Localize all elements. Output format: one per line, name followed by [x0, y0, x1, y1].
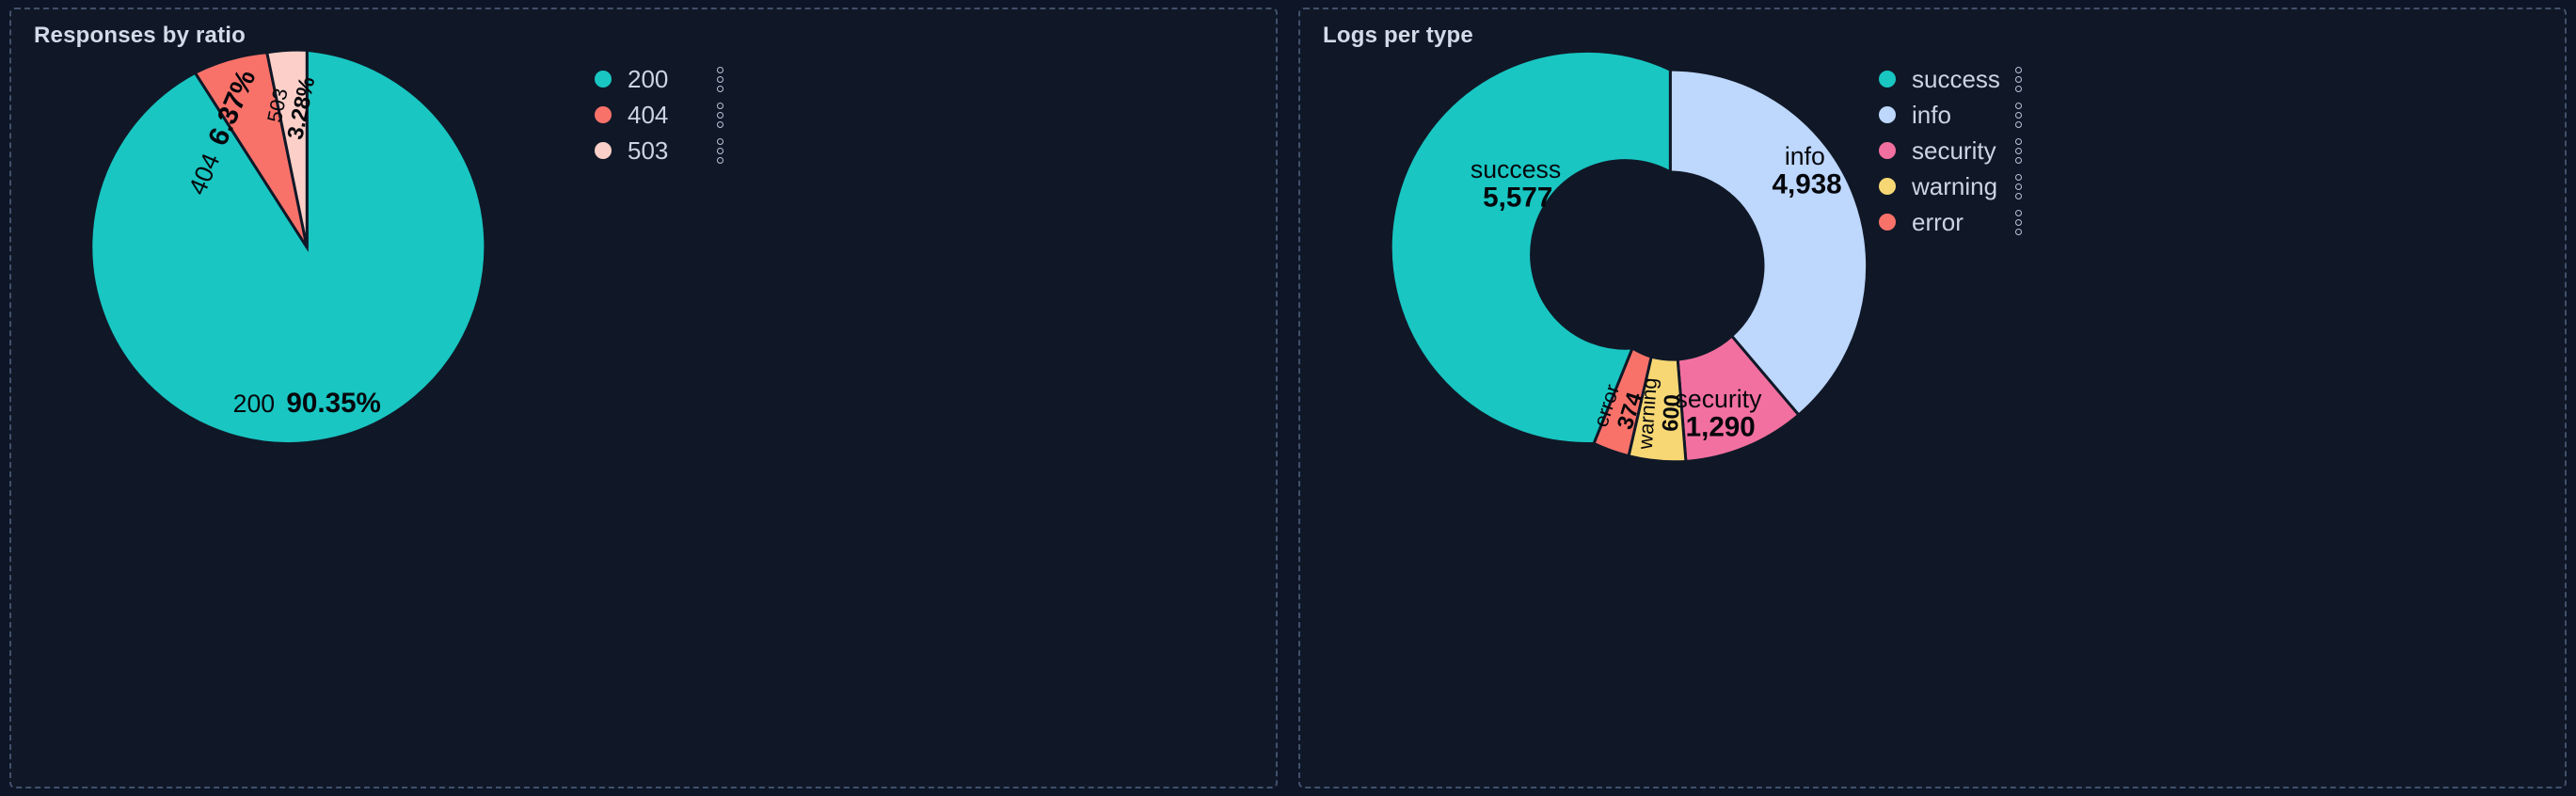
- kebab-menu-icon[interactable]: [2008, 102, 2028, 128]
- donut-label-success: success 5,577: [1471, 155, 1566, 214]
- legend-logs-per-type: success info security warning error: [1879, 66, 2000, 235]
- panel-responses-by-ratio: Responses by ratio 200 90.35%: [9, 8, 1278, 788]
- legend-item[interactable]: warning: [1879, 173, 2000, 199]
- legend-item-label: info: [1912, 101, 1951, 130]
- kebab-menu-icon[interactable]: [2008, 66, 2028, 92]
- legend-item[interactable]: success: [1879, 66, 2000, 92]
- kebab-menu-icon[interactable]: [709, 137, 730, 164]
- legend-responses-by-ratio: 200 404 503: [595, 66, 668, 164]
- legend-item-label: 503: [628, 136, 668, 166]
- legend-item[interactable]: info: [1879, 102, 2000, 128]
- legend-item[interactable]: 503: [595, 137, 668, 164]
- kebab-menu-icon[interactable]: [2008, 173, 2028, 199]
- legend-color-swatch-icon: [1879, 142, 1896, 159]
- legend-item-label: security: [1912, 136, 1996, 166]
- legend-color-swatch-icon: [595, 142, 612, 159]
- panel-logs-per-type: Logs per type info 4,938 s: [1298, 8, 2567, 788]
- legend-item[interactable]: 404: [595, 102, 668, 128]
- kebab-menu-icon[interactable]: [2008, 209, 2028, 235]
- kebab-menu-icon[interactable]: [2008, 137, 2028, 164]
- legend-item-label: 200: [628, 65, 668, 94]
- legend-item[interactable]: security: [1879, 137, 2000, 164]
- kebab-menu-icon[interactable]: [709, 102, 730, 128]
- legend-item-label: success: [1912, 65, 2000, 94]
- pie-label-200: 200 90.35%: [233, 388, 381, 419]
- legend-color-swatch-icon: [595, 71, 612, 88]
- legend-color-swatch-icon: [1879, 178, 1896, 195]
- legend-item[interactable]: error: [1879, 209, 2000, 235]
- dashboard-root: Responses by ratio 200 90.35%: [0, 0, 2576, 796]
- legend-item[interactable]: 200: [595, 66, 668, 92]
- legend-color-swatch-icon: [1879, 71, 1896, 88]
- kebab-menu-icon[interactable]: [709, 66, 730, 92]
- legend-item-label: error: [1912, 208, 1964, 237]
- legend-item-label: 404: [628, 101, 668, 130]
- legend-color-swatch-icon: [1879, 214, 1896, 231]
- donut-label-security: security 1,290: [1676, 385, 1766, 443]
- legend-color-swatch-icon: [595, 106, 612, 123]
- legend-item-label: warning: [1912, 172, 1997, 201]
- legend-color-swatch-icon: [1879, 106, 1896, 123]
